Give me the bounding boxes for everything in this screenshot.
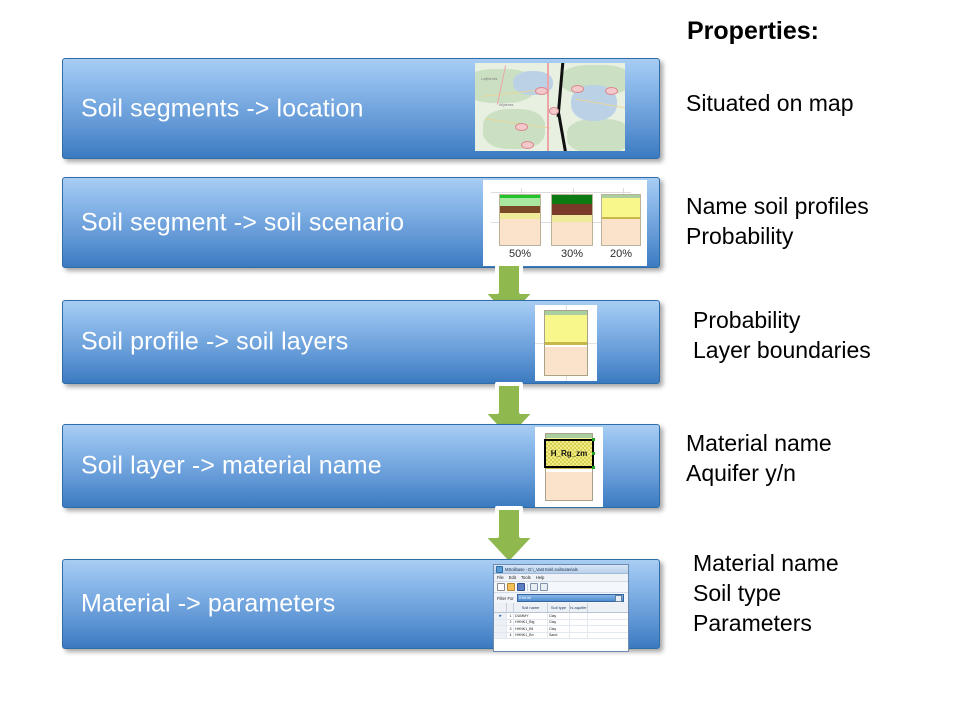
materials-table[interactable]: Soil name Soil type Is aquifer ▸ 1 DUMMY… <box>494 603 628 651</box>
cell-soil-name[interactable]: DUMMY <box>514 613 548 619</box>
map-route-marker <box>515 123 528 131</box>
map-thumbnail: Lutjebroek Wijdenes <box>475 63 625 151</box>
save-icon[interactable] <box>517 583 525 591</box>
table-header-row: Soil name Soil type Is aquifer <box>494 603 628 613</box>
map-green-area <box>567 119 625 151</box>
cell-is-aquifer[interactable] <box>570 613 588 619</box>
window-title: MSoilbase - D:\_Vast Eekl.soilmaterials <box>505 567 578 572</box>
msoilbase-window-thumbnail[interactable]: MSoilbase - D:\_Vast Eekl.soilmaterials … <box>493 564 629 652</box>
selected-layer-label: H_Rg_zm <box>551 449 587 458</box>
row-number: 3 <box>507 626 514 632</box>
property-item: Situated on map <box>686 88 854 118</box>
map-route-marker <box>549 107 559 115</box>
soil-layer <box>545 347 587 375</box>
soil-segment <box>602 198 640 217</box>
property-item: Parameters <box>693 608 839 638</box>
flow-box-label: Soil layer -> material name <box>81 452 382 481</box>
map-road-major <box>547 63 549 151</box>
column-header-soil-type[interactable]: Soil type <box>548 603 570 612</box>
filter-row[interactable]: Filter For Grid All <box>494 593 628 603</box>
cell-is-aquifer[interactable] <box>570 620 588 626</box>
map-route-marker <box>571 85 584 93</box>
table-row[interactable]: 4 HHNK1_Bn Sand <box>494 633 628 640</box>
soil-profile-percent: 30% <box>545 248 599 260</box>
properties-group-scenario: Name soil profiles Probability <box>686 191 869 251</box>
soil-profile-column <box>499 194 541 246</box>
cell-soil-type[interactable]: Clay <box>548 613 570 619</box>
soil-segment <box>500 198 540 206</box>
menu-item-tools[interactable]: Tools <box>521 575 531 580</box>
property-item: Aquifer y/n <box>686 458 832 488</box>
resize-handle[interactable] <box>592 438 595 441</box>
map-place-label: Lutjebroek <box>481 77 497 81</box>
cell-soil-name[interactable]: HHNK1_Bn <box>514 633 548 639</box>
row-selector[interactable]: ▸ <box>494 613 507 619</box>
soil-profile-column <box>551 194 593 246</box>
resize-handle[interactable] <box>592 466 595 469</box>
row-arrow-icon: ▸ <box>499 613 502 619</box>
flow-box-label: Material -> parameters <box>81 590 335 619</box>
chevron-down-icon[interactable] <box>615 595 622 602</box>
map-green-area <box>483 109 545 149</box>
property-item: Material name <box>693 548 839 578</box>
property-item: Material name <box>686 428 832 458</box>
soil-segment <box>552 222 592 246</box>
map-route-marker <box>521 141 534 149</box>
properties-group-profile: Probability Layer boundaries <box>693 305 871 365</box>
map-route-marker <box>605 87 618 95</box>
flow-box-soil-segments-location[interactable]: Soil segments -> location Lutjebroek Wij… <box>62 58 660 159</box>
open-folder-icon[interactable] <box>507 583 515 591</box>
cell-is-aquifer[interactable] <box>570 633 588 639</box>
column-header-is-aquifer[interactable]: Is aquifer <box>570 603 588 612</box>
filter-combobox[interactable]: Grid All <box>517 594 624 602</box>
flow-box-label: Soil segment -> soil scenario <box>81 208 404 237</box>
property-item: Probability <box>693 305 871 335</box>
soil-layer-thumbnail: H_Rg_zm <box>535 427 603 507</box>
row-number: 2 <box>507 620 514 626</box>
properties-group-material: Material name Soil type Parameters <box>693 548 839 638</box>
cell-soil-type[interactable]: Clay <box>548 626 570 632</box>
cell-soil-name[interactable]: HHNK1_Blg <box>514 620 548 626</box>
property-item: Soil type <box>693 578 839 608</box>
row-selector[interactable] <box>494 620 507 626</box>
menu-item-file[interactable]: File <box>497 575 504 580</box>
property-item: Layer boundaries <box>693 335 871 365</box>
soil-layer <box>545 315 587 342</box>
soil-profile-thumbnail <box>535 305 597 381</box>
flow-box-label: Soil profile -> soil layers <box>81 328 348 357</box>
filter-label: Filter For <box>497 596 514 601</box>
soil-layer <box>546 472 592 500</box>
selected-layer[interactable]: H_Rg_zm <box>544 439 594 468</box>
property-item: Probability <box>686 221 869 251</box>
row-number-header <box>507 603 514 612</box>
window-title-bar: MSoilbase - D:\_Vast Eekl.soilmaterials <box>494 565 628 574</box>
grid-line <box>491 192 631 193</box>
soil-scenario-thumbnail: 50% 30% 20% <box>483 180 647 266</box>
flow-box-material-parameters[interactable]: Material -> parameters MSoilbase - D:\_V… <box>62 559 660 649</box>
row-selector-header <box>494 603 507 612</box>
flow-box-soil-profile-layers[interactable]: Soil profile -> soil layers <box>62 300 660 384</box>
column-header-soil-name[interactable]: Soil name <box>514 603 548 612</box>
filter-value: Grid All <box>519 596 531 600</box>
info-icon[interactable] <box>540 583 548 591</box>
app-icon <box>496 566 503 573</box>
refresh-icon[interactable] <box>530 583 538 591</box>
row-selector[interactable] <box>494 633 507 639</box>
soil-profile-percent: 50% <box>493 248 547 260</box>
cell-is-aquifer[interactable] <box>570 626 588 632</box>
map-route-marker <box>535 87 548 95</box>
toolbar[interactable] <box>494 582 628 593</box>
row-number: 1 <box>507 613 514 619</box>
flow-box-label: Soil segments -> location <box>81 94 364 123</box>
soil-segment <box>602 219 640 245</box>
soil-segment <box>552 204 592 216</box>
soil-profile-percent: 20% <box>594 248 647 260</box>
row-number: 4 <box>507 633 514 639</box>
property-item: Name soil profiles <box>686 191 869 221</box>
cell-soil-type[interactable]: Sand <box>548 633 570 639</box>
cell-soil-type[interactable]: Clay <box>548 620 570 626</box>
toolbar-separator <box>527 584 528 591</box>
soil-segment <box>500 219 540 245</box>
row-selector[interactable] <box>494 626 507 632</box>
properties-group-layer: Material name Aquifer y/n <box>686 428 832 488</box>
resize-handle[interactable] <box>592 452 595 455</box>
properties-group-location: Situated on map <box>686 88 854 118</box>
cell-soil-name[interactable]: HHNK1_Bll <box>514 626 548 632</box>
properties-heading: Properties: <box>687 17 819 46</box>
map-place-label: Wijdenes <box>499 103 513 107</box>
soil-layer-stack <box>544 310 588 376</box>
flow-box-soil-layer-material[interactable]: Soil layer -> material name H_Rg_zm <box>62 424 660 508</box>
menu-item-edit[interactable]: Edit <box>509 575 516 580</box>
menu-item-help[interactable]: Help <box>536 575 545 580</box>
new-file-icon[interactable] <box>497 583 505 591</box>
flow-box-soil-segment-scenario[interactable]: Soil segment -> soil scenario 50% 30% <box>62 177 660 268</box>
menu-bar[interactable]: File Edit Tools Help <box>494 574 628 582</box>
soil-profile-column <box>601 194 641 246</box>
soil-segment <box>552 195 592 204</box>
